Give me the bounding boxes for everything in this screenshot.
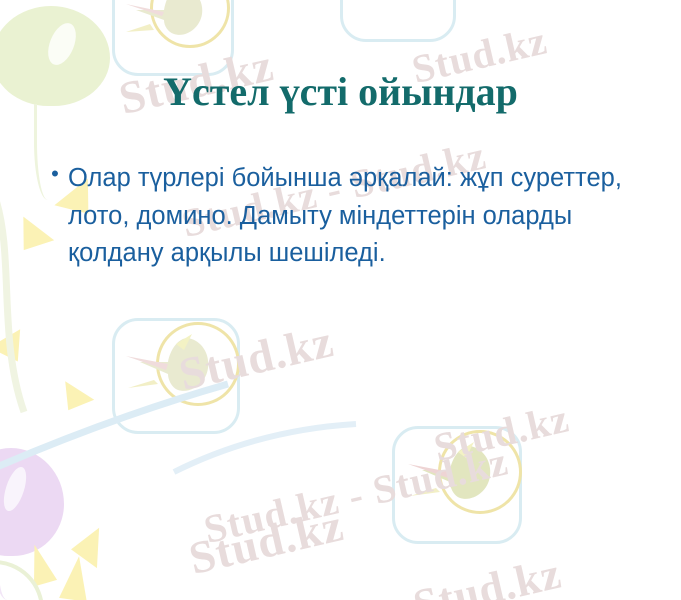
- watermark: Stud.kz: [184, 498, 348, 585]
- circle-decoration: [0, 560, 44, 600]
- bird-icon: [402, 434, 516, 528]
- ray-decoration: [23, 541, 57, 586]
- watermark: Stud.kz - Stud.kz: [199, 437, 512, 553]
- bird-emblem-frame: [112, 318, 240, 434]
- slide-title: Үстел үсті ойындар: [0, 68, 681, 115]
- balloon-purple-decoration: [0, 448, 64, 556]
- bird-emblem-frame: [392, 426, 522, 544]
- bird-emblem-frame: [112, 0, 234, 76]
- bullet-item: • Олар түрлері бойынша әрқалай: жұп суре…: [42, 160, 652, 273]
- ray-decoration: [71, 522, 117, 568]
- swoosh-decoration: [0, 352, 230, 482]
- watermark: Stud.kz: [409, 548, 567, 600]
- watermark: Stud.kz: [429, 394, 573, 471]
- ray-decoration: [59, 554, 93, 600]
- ray-decoration: [0, 321, 31, 362]
- bird-emblem-halo: [150, 0, 230, 48]
- bird-emblem-frame: [340, 0, 456, 42]
- slide-canvas: Stud.kz Stud.kz Stud.kz Stud.kz - Stud.k…: [0, 0, 681, 600]
- slide-body: • Олар түрлері бойынша әрқалай: жұп суре…: [42, 160, 652, 273]
- bullet-marker-icon: •: [42, 160, 68, 174]
- balloon-purple-string: [0, 552, 15, 600]
- ray-decoration: [58, 374, 94, 410]
- bullet-text: Олар түрлері бойынша әрқалай: жұп суретт…: [68, 160, 652, 273]
- swoosh-decoration: [170, 410, 400, 500]
- bird-icon: [120, 0, 230, 62]
- bird-icon: [122, 326, 234, 418]
- watermark: Stud.kz: [174, 314, 338, 401]
- bird-emblem-halo: [156, 322, 240, 406]
- bird-emblem-halo: [438, 430, 522, 514]
